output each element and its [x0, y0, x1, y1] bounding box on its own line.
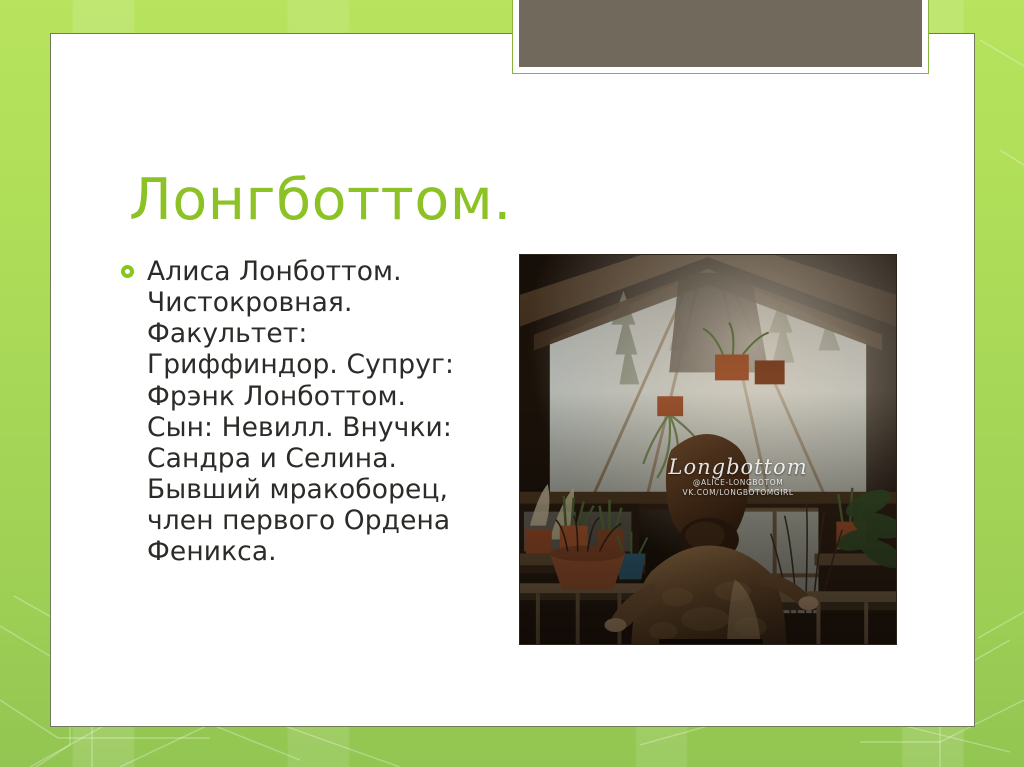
header-accent-banner-fill [519, 0, 922, 67]
bullet-list-item-text: Алиса Лонботтом. Чистокровная. Факультет… [147, 256, 473, 567]
slide-canvas: Лонгботтом. Алиса Лонботтом. Чистокровна… [0, 0, 1024, 767]
slide-title: Лонгботтом. [129, 171, 512, 231]
greenhouse-photo-art [520, 255, 896, 644]
header-accent-banner [512, 0, 929, 74]
ring-bullet-icon [121, 265, 134, 278]
greenhouse-photo: Longbottom @ALICE-LONGBOTOM VK.COM/LONGB… [519, 254, 897, 645]
bullet-list: Алиса Лонботтом. Чистокровная. Факультет… [121, 256, 473, 567]
